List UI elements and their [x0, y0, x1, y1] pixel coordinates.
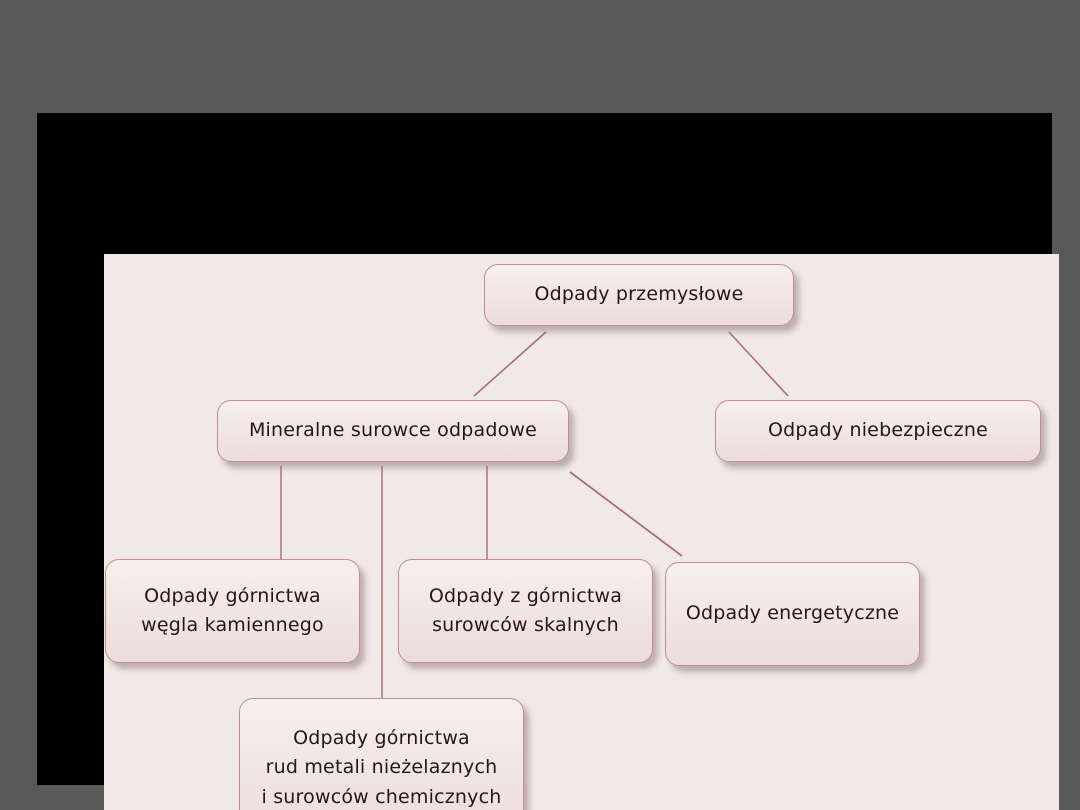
node-label: Odpady przemysłowe [534, 280, 743, 309]
node-label-line-2: węgla kamiennego [141, 611, 324, 640]
node-label-line-1: Odpady górnictwa [144, 582, 321, 611]
edge-root-to-hazard [729, 332, 788, 396]
node-label: Odpady energetyczne [686, 599, 899, 628]
slide-frame: Odpady przemysłowe Mineralne surowce odp… [37, 113, 1052, 785]
node-label-line-3: i surowców chemicznych [261, 783, 501, 810]
node-odpady-gornictwa-rud-metali[interactable]: Odpady górnictwa rud metali nieżelaznych… [239, 698, 524, 810]
node-odpady-przemyslowe[interactable]: Odpady przemysłowe [484, 264, 794, 326]
node-odpady-energetyczne[interactable]: Odpady energetyczne [665, 562, 920, 666]
node-label-line-1: Odpady górnictwa [293, 724, 470, 753]
node-label-line-2: surowców skalnych [432, 611, 619, 640]
node-odpady-niebezpieczne[interactable]: Odpady niebezpieczne [715, 400, 1041, 462]
diagram-canvas: Odpady przemysłowe Mineralne surowce odp… [104, 254, 1059, 810]
node-odpady-gornictwa-wegla-kamiennego[interactable]: Odpady górnictwa węgla kamiennego [105, 559, 360, 663]
slide-stage: Odpady przemysłowe Mineralne surowce odp… [0, 0, 1080, 810]
node-label: Mineralne surowce odpadowe [249, 416, 537, 445]
node-odpady-z-gornictwa-surowcow-skalnych[interactable]: Odpady z górnictwa surowców skalnych [398, 559, 653, 663]
edge-mineral-to-energy [570, 472, 682, 556]
node-label-line-1: Odpady z górnictwa [429, 582, 622, 611]
node-mineralne-surowce-odpadowe[interactable]: Mineralne surowce odpadowe [217, 400, 569, 462]
edge-root-to-mineral [474, 332, 546, 396]
node-label: Odpady niebezpieczne [768, 416, 988, 445]
node-label-line-2: rud metali nieżelaznych [266, 753, 498, 782]
